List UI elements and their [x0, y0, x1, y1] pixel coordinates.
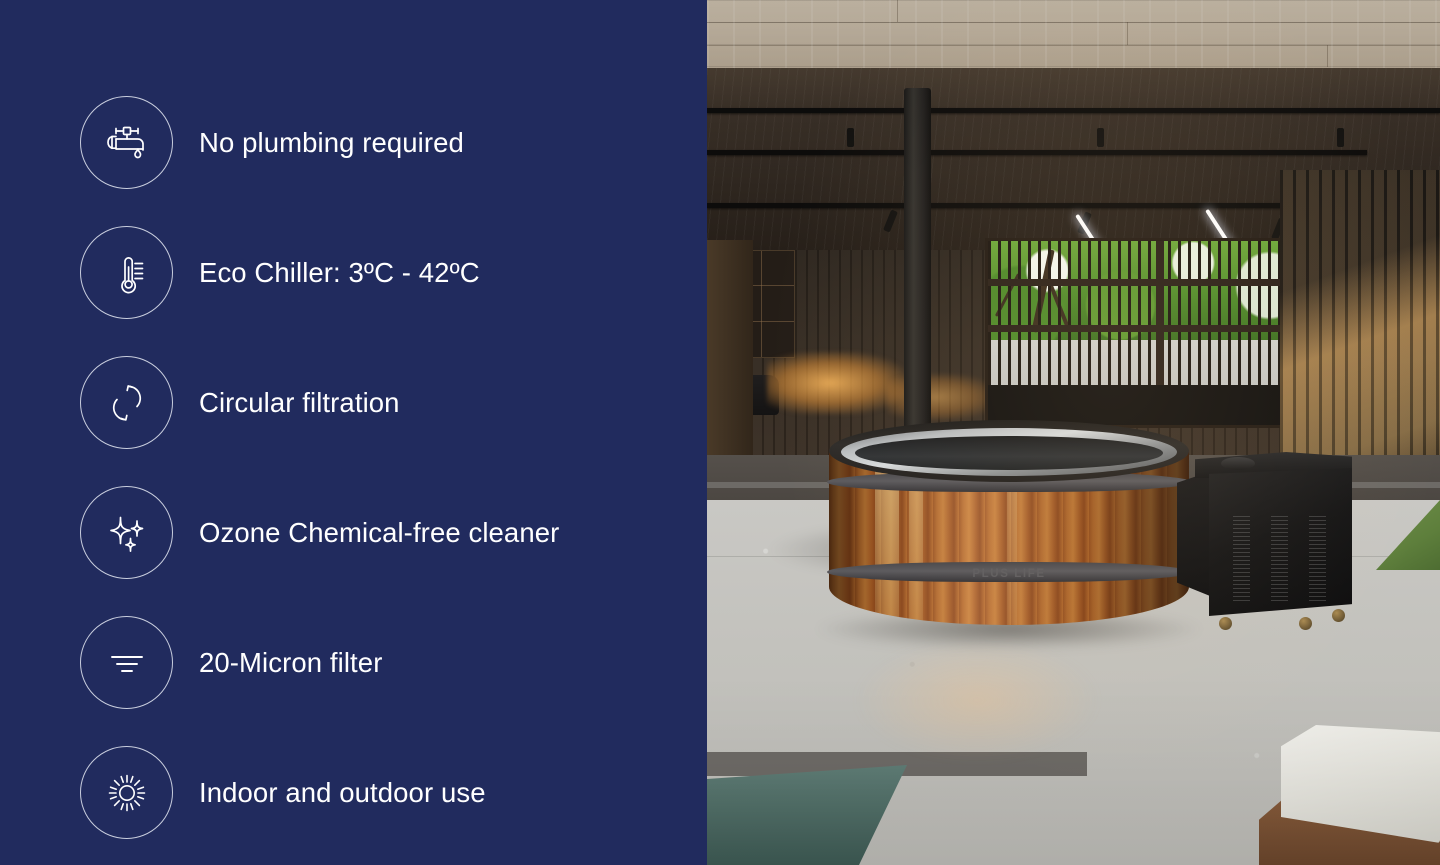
- chiller-caster: [1299, 617, 1312, 630]
- light-wood-ceiling: [707, 0, 1440, 70]
- track-spotlight: [1097, 128, 1104, 147]
- faucet-icon: [80, 96, 173, 189]
- feature-item-indoor-outdoor: Indoor and outdoor use: [80, 746, 559, 839]
- tub-brand-label: PLUS LIFE: [829, 568, 1189, 580]
- window-base: [988, 385, 1319, 425]
- feature-item-no-plumbing: No plumbing required: [80, 96, 559, 189]
- sparkle-icon: [80, 486, 173, 579]
- product-photo: PLUS LIFE: [707, 0, 1440, 865]
- track-rail: [707, 150, 1367, 155]
- track-spotlight: [847, 128, 854, 147]
- chiller-vent: [1309, 516, 1326, 602]
- chiller-front-panel: [1209, 468, 1352, 616]
- chiller-unit: [1177, 452, 1352, 630]
- feature-item-ozone-cleaner: Ozone Chemical-free cleaner: [80, 486, 559, 579]
- thermometer-icon: [80, 226, 173, 319]
- sun-icon: [80, 746, 173, 839]
- sunlight-patch: [767, 352, 907, 414]
- feature-item-micron-filter: 20-Micron filter: [80, 616, 559, 709]
- recycle-icon: [80, 356, 173, 449]
- cedar-cold-plunge-tub: PLUS LIFE: [829, 420, 1189, 635]
- black-column: [904, 88, 931, 448]
- chiller-vent: [1233, 516, 1250, 602]
- daybed: [1255, 695, 1440, 865]
- feature-label: Indoor and outdoor use: [199, 777, 486, 809]
- feature-list: No plumbing required Eco Chiller: 3ºC -: [80, 96, 559, 839]
- chiller-port-cap: [1221, 457, 1255, 470]
- window-rail: [988, 325, 1319, 332]
- track-rail: [707, 203, 1317, 208]
- track-spotlight: [1337, 128, 1344, 147]
- chiller-vent: [1271, 516, 1288, 602]
- feature-item-circular-filtration: Circular filtration: [80, 356, 559, 449]
- feature-label: 20-Micron filter: [199, 647, 382, 679]
- feature-panel: No plumbing required Eco Chiller: 3ºC -: [0, 0, 707, 865]
- floor-reflection: [857, 640, 1097, 760]
- filter-icon: [80, 616, 173, 709]
- feature-label: Circular filtration: [199, 387, 400, 419]
- wall-panel: [707, 240, 753, 470]
- track-rail: [707, 108, 1440, 113]
- feature-item-eco-chiller: Eco Chiller: 3ºC - 42ºC: [80, 226, 559, 319]
- feature-label: No plumbing required: [199, 127, 464, 159]
- promo-feature-page: No plumbing required Eco Chiller: 3ºC -: [0, 0, 1440, 865]
- chiller-caster: [1332, 609, 1345, 622]
- tub-water-surface: [855, 436, 1163, 470]
- slat-window: [985, 238, 1322, 428]
- chiller-caster: [1219, 617, 1232, 630]
- feature-label: Eco Chiller: 3ºC - 42ºC: [199, 257, 480, 289]
- feature-label: Ozone Chemical-free cleaner: [199, 517, 559, 549]
- window-rail: [988, 279, 1319, 286]
